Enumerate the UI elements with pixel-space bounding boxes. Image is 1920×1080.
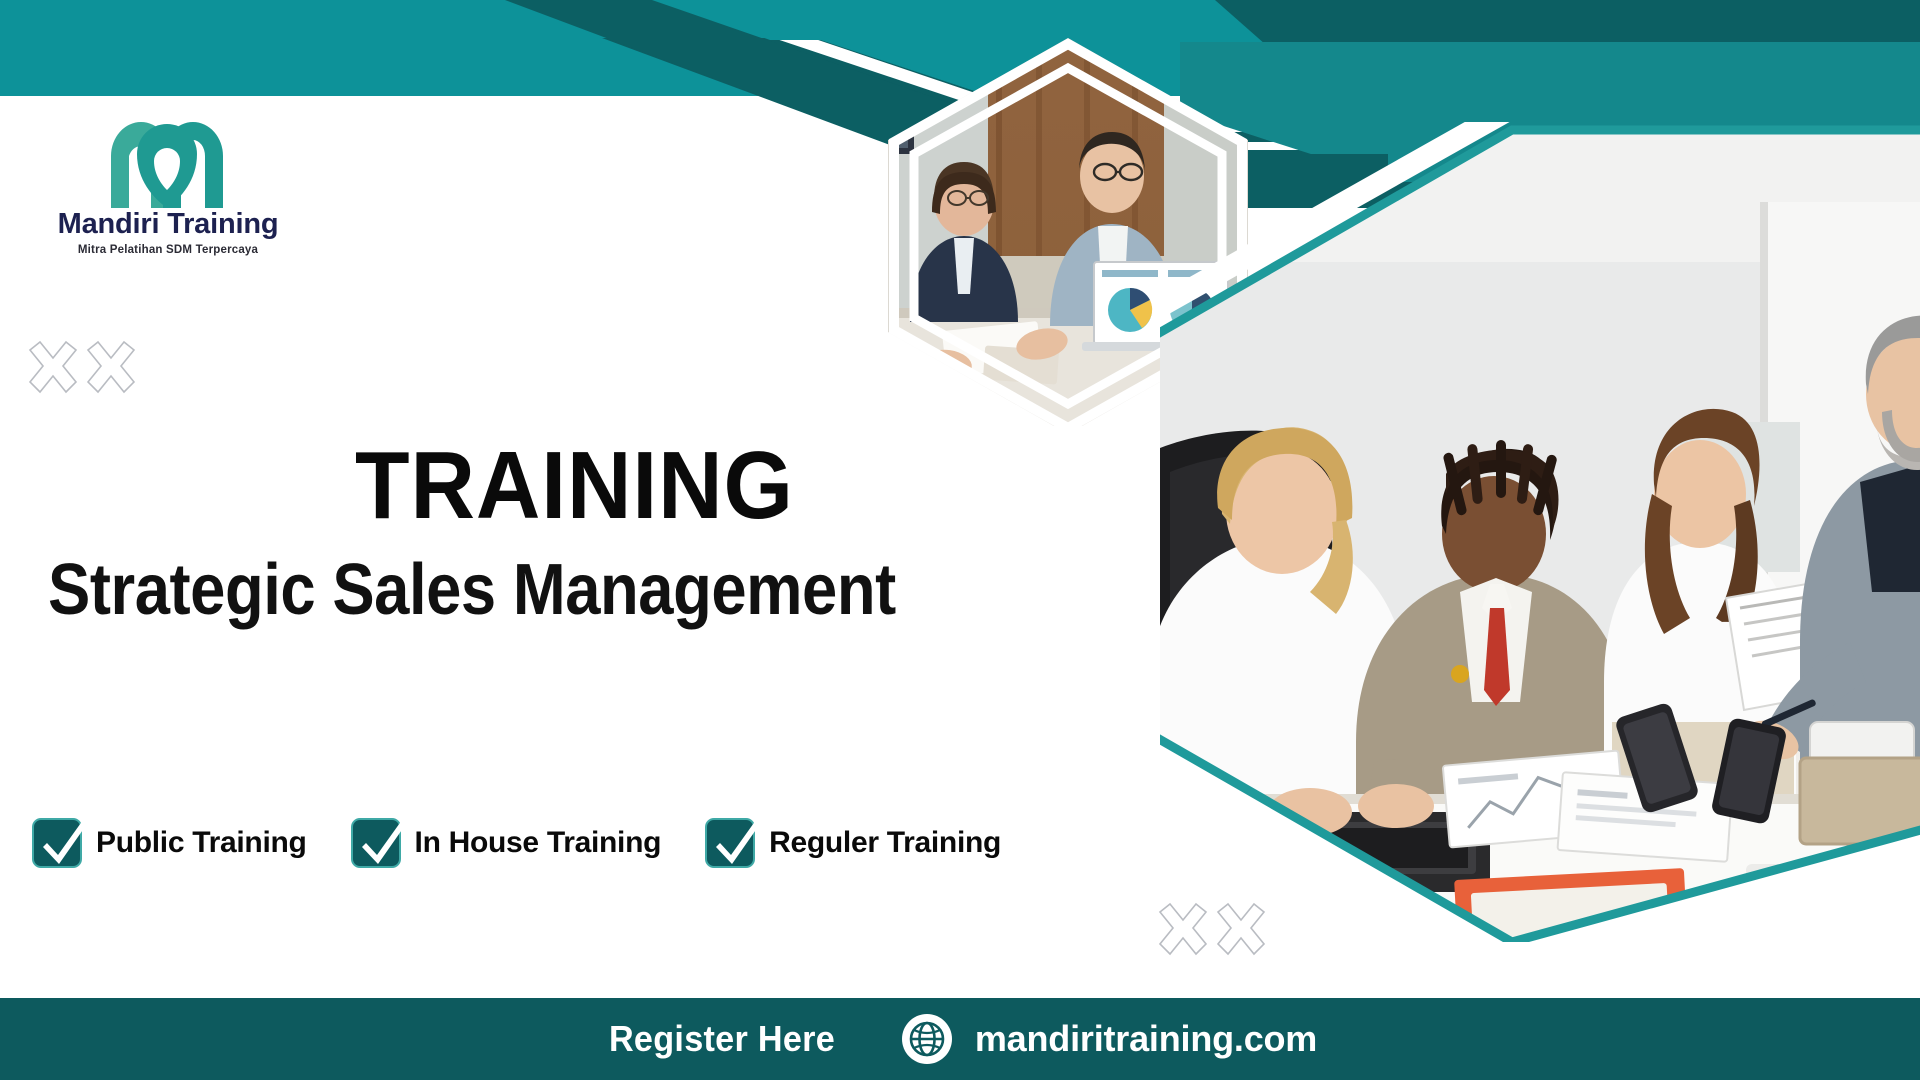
register-here-label: Register Here: [609, 1018, 835, 1060]
page-eyebrow-title: TRAINING: [355, 438, 794, 534]
brand-logo: Mandiri Training Mitra Pelatihan SDM Ter…: [38, 108, 298, 257]
website-url[interactable]: mandiritraining.com: [975, 1018, 1317, 1060]
checkbox-public-training[interactable]: [32, 818, 82, 868]
training-option-label: Public Training: [96, 826, 307, 860]
page-title: Strategic Sales Management: [48, 552, 896, 628]
hexagon-photo-team-main: [1160, 122, 1920, 942]
poster-canvas: Mandiri Training Mitra Pelatihan SDM Ter…: [0, 0, 1920, 1080]
checkmark-icon: [710, 816, 762, 870]
checkbox-in-house-training[interactable]: [351, 818, 401, 868]
training-option-label: In House Training: [415, 826, 662, 860]
brand-tagline: Mitra Pelatihan SDM Terpercaya: [38, 245, 298, 257]
training-option-reguler[interactable]: Reguler Training: [705, 818, 1001, 868]
x-cross-pair-left: [22, 338, 140, 400]
mandiri-m-monogram-icon: [93, 108, 243, 208]
globe-icon: [901, 1013, 953, 1065]
footer-content: Register Here mandiritraining.com: [603, 1013, 1317, 1065]
training-option-in-house[interactable]: In House Training: [351, 818, 662, 868]
checkmark-icon: [37, 816, 89, 870]
training-option-label: Reguler Training: [769, 826, 1001, 860]
footer-bar: Register Here mandiritraining.com: [0, 998, 1920, 1080]
training-options-list: Public Training In House Training Regule…: [32, 818, 1045, 868]
checkmark-icon: [356, 816, 408, 870]
training-option-public[interactable]: Public Training: [32, 818, 307, 868]
checkbox-reguler-training[interactable]: [705, 818, 755, 868]
brand-name: Mandiri Training: [38, 210, 298, 239]
